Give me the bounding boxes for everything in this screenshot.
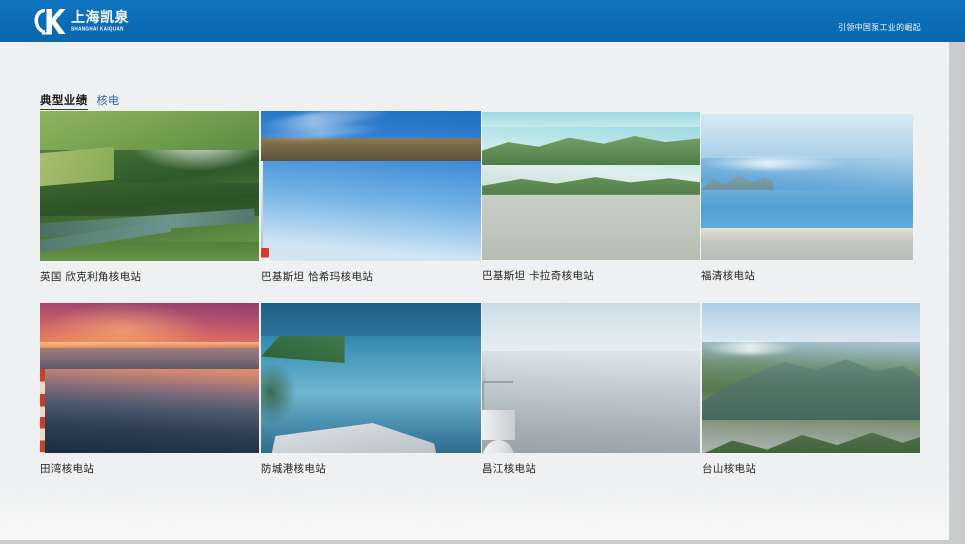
content-panel: 典型业绩 核电 英国 欣克利角核电站 (0, 42, 950, 540)
site-header: 上海凯泉 SHANGHAI KAIQUAN 引领中国泵工业的崛起 (0, 0, 965, 42)
gallery-item-karachi[interactable]: 巴基斯坦 卡拉奇核电站 (482, 111, 700, 284)
brand-name-cn: 上海凯泉 (71, 11, 129, 26)
section-category-link-nuclear[interactable]: 核电 (97, 92, 120, 108)
gallery-row: 英国 欣克利角核电站 巴基斯坦 恰希玛核电站 (40, 111, 920, 284)
section-title: 典型业绩 (40, 92, 88, 110)
section-header: 典型业绩 核电 (40, 92, 119, 110)
project-thumbnail[interactable] (261, 303, 481, 453)
gallery-item-fuqing[interactable]: 福清核电站 (700, 111, 920, 284)
project-caption: 田湾核电站 (40, 461, 259, 476)
project-caption: 巴基斯坦 恰希玛核电站 (261, 269, 481, 284)
gallery-item-fangchenggang[interactable]: 防城港核电站 (261, 303, 481, 476)
brand-logo-text: 上海凯泉 SHANGHAI KAIQUAN (71, 7, 129, 36)
gallery-item-taishan[interactable]: 台山核电站 (700, 303, 920, 476)
performance-gallery-grid: 英国 欣克利角核电站 巴基斯坦 恰希玛核电站 (40, 111, 920, 476)
gallery-item-changjiang[interactable]: 昌江核电站 (482, 303, 700, 476)
project-caption: 台山核电站 (702, 461, 920, 476)
gallery-row: 田湾核电站 防城港核电站 (40, 303, 920, 476)
gallery-item-hinkley-point[interactable]: 英国 欣克利角核电站 (40, 111, 259, 284)
project-thumbnail[interactable] (482, 303, 700, 453)
project-caption: 巴基斯坦 卡拉奇核电站 (482, 268, 700, 283)
project-thumbnail[interactable] (701, 114, 913, 260)
project-caption: 英国 欣克利角核电站 (40, 269, 259, 284)
project-caption: 昌江核电站 (482, 461, 700, 476)
project-thumbnail[interactable] (261, 111, 481, 261)
project-thumbnail[interactable] (40, 111, 259, 261)
gallery-item-tianwan[interactable]: 田湾核电站 (40, 303, 259, 476)
gallery-item-chashma[interactable]: 巴基斯坦 恰希玛核电站 (261, 111, 481, 284)
header-tagline: 引领中国泵工业的崛起 (838, 22, 921, 33)
page-bottom-fade (0, 486, 950, 540)
kaiquan-k-monogram-icon (33, 7, 67, 36)
project-thumbnail[interactable] (482, 112, 700, 260)
brand-name-en: SHANGHAI KAIQUAN (71, 26, 129, 33)
project-caption: 防城港核电站 (261, 461, 481, 476)
project-thumbnail[interactable] (40, 303, 259, 453)
project-thumbnail[interactable] (702, 303, 920, 453)
brand-logo[interactable]: 上海凯泉 SHANGHAI KAIQUAN (33, 6, 129, 37)
project-caption: 福清核电站 (701, 268, 920, 283)
